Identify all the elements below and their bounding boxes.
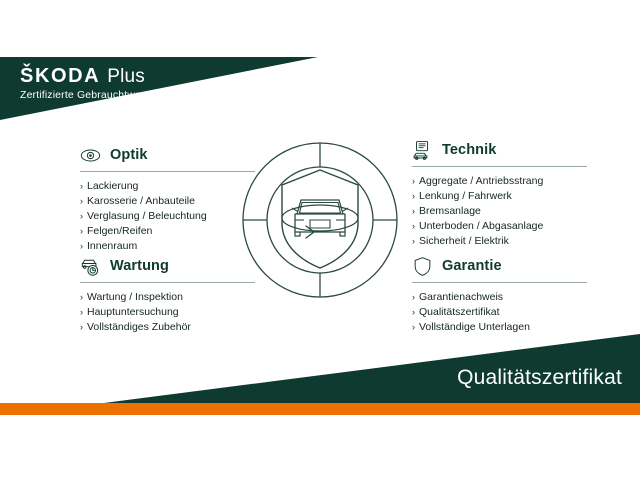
section-optik-header: Optik bbox=[80, 143, 255, 167]
list-item-label: Verglasung / Beleuchtung bbox=[87, 209, 207, 224]
list-item-label: Lenkung / Fahrwerk bbox=[419, 189, 512, 204]
section-wartung: Wartung ›Wartung / Inspektion ›Hauptunte… bbox=[80, 254, 255, 335]
section-optik: Optik ›Lackierung ›Karosserie / Anbautei… bbox=[80, 143, 255, 254]
chevron-right-icon: › bbox=[412, 189, 415, 204]
list-item: ›Qualitätszertifikat bbox=[412, 305, 587, 320]
shield-car-rotation-emblem bbox=[240, 140, 400, 300]
list-item-label: Bremsanlage bbox=[419, 204, 481, 219]
list-item: ›Verglasung / Beleuchtung bbox=[80, 209, 255, 224]
list-item: ›Lackierung bbox=[80, 179, 255, 194]
car-service-icon bbox=[80, 256, 101, 277]
section-optik-title: Optik bbox=[110, 147, 148, 163]
list-item: ›Aggregate / Antriebsstrang bbox=[412, 174, 587, 189]
section-garantie-header: Garantie bbox=[412, 254, 587, 278]
list-item: ›Hauptuntersuchung bbox=[80, 305, 255, 320]
shield-icon bbox=[412, 256, 433, 277]
list-item: ›Wartung / Inspektion bbox=[80, 290, 255, 305]
list-item: ›Vollständige Unterlagen bbox=[412, 320, 587, 335]
car-windshield bbox=[300, 203, 341, 214]
section-technik-header: Technik bbox=[412, 138, 587, 162]
list-item: ›Unterboden / Abgasanlage bbox=[412, 219, 587, 234]
section-garantie-title: Garantie bbox=[442, 258, 502, 274]
chevron-right-icon: › bbox=[80, 305, 83, 320]
list-item-label: Vollständiges Zubehör bbox=[87, 320, 191, 335]
list-item-label: Felgen/Reifen bbox=[87, 224, 152, 239]
chevron-right-icon: › bbox=[80, 239, 83, 254]
chevron-right-icon: › bbox=[412, 320, 415, 335]
list-item: ›Felgen/Reifen bbox=[80, 224, 255, 239]
list-item: ›Lenkung / Fahrwerk bbox=[412, 189, 587, 204]
list-item: ›Garantienachweis bbox=[412, 290, 587, 305]
section-technik-divider bbox=[412, 166, 587, 167]
chevron-right-icon: › bbox=[80, 209, 83, 224]
brand-logo: ŠKODA Plus Zertifizierte Gebrauchtwagen bbox=[20, 66, 159, 101]
section-technik-list: ›Aggregate / Antriebsstrang ›Lenkung / F… bbox=[412, 174, 587, 249]
list-item-label: Innenraum bbox=[87, 239, 137, 254]
list-item-label: Karosserie / Anbauteile bbox=[87, 194, 195, 209]
car-lift-icon bbox=[412, 140, 433, 161]
section-technik: Technik ›Aggregate / Antriebsstrang ›Len… bbox=[412, 138, 587, 249]
orange-rule-bar bbox=[0, 403, 640, 415]
list-item-label: Garantienachweis bbox=[419, 290, 503, 305]
section-wartung-divider bbox=[80, 282, 255, 283]
chevron-right-icon: › bbox=[80, 224, 83, 239]
brand-suffix: Plus bbox=[107, 67, 145, 86]
section-wartung-list: ›Wartung / Inspektion ›Hauptuntersuchung… bbox=[80, 290, 255, 335]
list-item: ›Sicherheit / Elektrik bbox=[412, 234, 587, 249]
chevron-right-icon: › bbox=[412, 204, 415, 219]
list-item-label: Aggregate / Antriebsstrang bbox=[419, 174, 543, 189]
list-item: ›Karosserie / Anbauteile bbox=[80, 194, 255, 209]
section-garantie-list: ›Garantienachweis ›Qualitätszertifikat ›… bbox=[412, 290, 587, 335]
inner-ring-arc-tl bbox=[267, 167, 320, 220]
brand-logo-row: ŠKODA Plus bbox=[20, 66, 159, 86]
chevron-right-icon: › bbox=[412, 305, 415, 320]
section-wartung-header: Wartung bbox=[80, 254, 255, 278]
eye-icon bbox=[80, 145, 101, 166]
inner-ring-arc-tr bbox=[320, 167, 373, 220]
chevron-right-icon: › bbox=[412, 219, 415, 234]
section-optik-list: ›Lackierung ›Karosserie / Anbauteile ›Ve… bbox=[80, 179, 255, 254]
list-item-label: Qualitätszertifikat bbox=[419, 305, 500, 320]
list-item-label: Vollständige Unterlagen bbox=[419, 320, 530, 335]
section-optik-divider bbox=[80, 171, 255, 172]
brand-name: ŠKODA bbox=[20, 66, 100, 86]
certificate-caption: Qualitätszertifikat bbox=[457, 366, 622, 390]
list-item-label: Wartung / Inspektion bbox=[87, 290, 183, 305]
chevron-right-icon: › bbox=[412, 174, 415, 189]
list-item: ›Innenraum bbox=[80, 239, 255, 254]
chevron-right-icon: › bbox=[80, 320, 83, 335]
section-technik-title: Technik bbox=[442, 142, 496, 158]
list-item-label: Lackierung bbox=[87, 179, 138, 194]
car-grille bbox=[310, 220, 330, 228]
chevron-right-icon: › bbox=[412, 290, 415, 305]
brand-tagline: Zertifizierte Gebrauchtwagen bbox=[20, 90, 159, 101]
list-item-label: Unterboden / Abgasanlage bbox=[419, 219, 543, 234]
list-item: ›Vollständiges Zubehör bbox=[80, 320, 255, 335]
list-item: ›Bremsanlage bbox=[412, 204, 587, 219]
chevron-right-icon: › bbox=[80, 179, 83, 194]
emblem-shield bbox=[282, 170, 358, 268]
certificate-graphic: ŠKODA Plus Zertifizierte Gebrauchtwagen … bbox=[0, 0, 640, 480]
section-garantie-divider bbox=[412, 282, 587, 283]
list-item-label: Hauptuntersuchung bbox=[87, 305, 179, 320]
section-garantie: Garantie ›Garantienachweis ›Qualitätszer… bbox=[412, 254, 587, 335]
chevron-right-icon: › bbox=[412, 234, 415, 249]
list-item-label: Sicherheit / Elektrik bbox=[419, 234, 509, 249]
section-wartung-title: Wartung bbox=[110, 258, 169, 274]
chevron-right-icon: › bbox=[80, 290, 83, 305]
chevron-right-icon: › bbox=[80, 194, 83, 209]
